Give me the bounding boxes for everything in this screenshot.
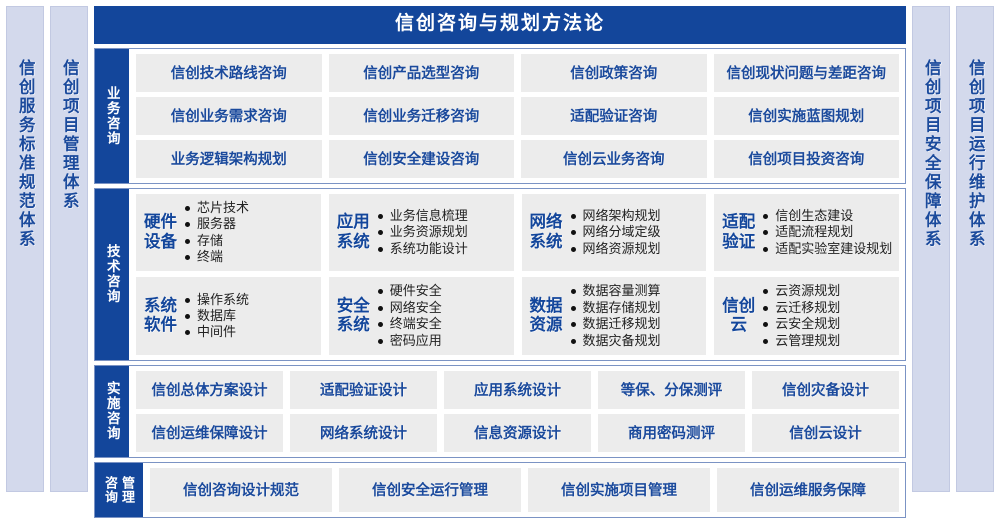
list-item: 中间件 — [184, 324, 315, 340]
card-title-line2: 设备 — [144, 233, 177, 252]
card-list: 数据容量测算 数据存储规划 数据迁移规划 数据灾备规划 — [570, 283, 701, 349]
tile-implementation-item[interactable]: 应用系统设计 — [444, 371, 591, 409]
list-item: 云资源规划 — [762, 283, 893, 299]
tile-implementation-item[interactable]: 商用密码测评 — [598, 414, 745, 452]
card-title-line1: 应用 — [337, 213, 370, 232]
card-title: 数据 资源 — [530, 297, 570, 336]
list-item: 数据存储规划 — [570, 300, 701, 316]
section-management-label-bar: 咨询 管理 — [95, 463, 143, 517]
list-item: 业务信息梳理 — [377, 208, 508, 224]
tile-implementation-item[interactable]: 信创云设计 — [752, 414, 899, 452]
card-list: 硬件安全 网络安全 终端安全 密码应用 — [377, 283, 508, 349]
tile-business-item[interactable]: 信创业务迁移咨询 — [329, 97, 515, 135]
list-item: 网络分域定级 — [570, 224, 701, 240]
list-item: 云安全规划 — [762, 316, 893, 332]
pillar-project-operations-label: 信创项目运行维护体系 — [967, 59, 984, 249]
list-item: 云迁移规划 — [762, 300, 893, 316]
tile-implementation-item[interactable]: 信创运维保障设计 — [136, 414, 283, 452]
card-title-line2: 资源 — [530, 316, 563, 335]
tile-business-item[interactable]: 业务逻辑架构规划 — [136, 140, 322, 178]
card-hardware-devices[interactable]: 硬件 设备 芯片技术 服务器 存储 终端 — [136, 194, 321, 272]
tile-row: 信创业务需求咨询 信创业务迁移咨询 适配验证咨询 信创实施蓝图规划 — [136, 97, 899, 135]
list-item: 终端 — [184, 249, 315, 265]
card-title-line1: 信创 — [722, 297, 755, 316]
card-adaptation-verification[interactable]: 适配 验证 信创生态建设 适配流程规划 适配实验室建设规划 — [714, 194, 899, 272]
tile-implementation-item[interactable]: 网络系统设计 — [290, 414, 437, 452]
tile-business-item[interactable]: 信创项目投资咨询 — [714, 140, 900, 178]
list-item: 终端安全 — [377, 316, 508, 332]
pillar-project-security: 信创项目安全保障体系 — [912, 6, 950, 492]
tile-business-item[interactable]: 信创业务需求咨询 — [136, 97, 322, 135]
section-management-label-col1: 咨询 — [104, 476, 117, 504]
section-technical-label: 技术咨询 — [105, 244, 119, 304]
tile-business-item[interactable]: 信创政策咨询 — [521, 54, 707, 92]
tile-row: 信创咨询设计规范 信创安全运行管理 信创实施项目管理 信创运维服务保障 — [150, 468, 899, 512]
card-title-line2: 软件 — [144, 316, 177, 335]
card-application-system[interactable]: 应用 系统 业务信息梳理 业务资源规划 系统功能设计 — [329, 194, 514, 272]
pillar-project-management-label: 信创项目管理体系 — [61, 59, 78, 211]
tile-implementation-item[interactable]: 信创总体方案设计 — [136, 371, 283, 409]
section-implementation-label: 实施咨询 — [105, 381, 119, 441]
card-security-system[interactable]: 安全 系统 硬件安全 网络安全 终端安全 密码应用 — [329, 277, 514, 355]
card-title-line1: 数据 — [530, 297, 563, 316]
list-item: 芯片技术 — [184, 200, 315, 216]
section-management-body: 信创咨询设计规范 信创安全运行管理 信创实施项目管理 信创运维服务保障 — [143, 463, 905, 517]
card-list: 网络架构规划 网络分域定级 网络资源规划 — [570, 208, 701, 257]
card-title: 适配 验证 — [722, 213, 762, 252]
card-title: 网络 系统 — [530, 213, 570, 252]
tile-management-item[interactable]: 信创运维服务保障 — [717, 468, 899, 512]
card-title-line1: 系统 — [144, 297, 177, 316]
pillar-project-operations: 信创项目运行维护体系 — [956, 6, 994, 492]
card-title: 安全 系统 — [337, 297, 377, 336]
card-system-software[interactable]: 系统 软件 操作系统 数据库 中间件 — [136, 277, 321, 355]
section-business-label-bar: 业务咨询 — [95, 49, 129, 183]
tile-business-item[interactable]: 信创现状问题与差距咨询 — [714, 54, 900, 92]
card-title: 信创 云 — [722, 297, 762, 336]
list-item: 业务资源规划 — [377, 224, 508, 240]
section-implementation-label-bar: 实施咨询 — [95, 366, 129, 457]
section-business-body: 信创技术路线咨询 信创产品选型咨询 信创政策咨询 信创现状问题与差距咨询 信创业… — [129, 49, 905, 183]
card-title-line1: 适配 — [722, 213, 755, 232]
card-title-line2: 验证 — [722, 233, 755, 252]
card-title-line2: 系统 — [530, 233, 563, 252]
card-title-line1: 安全 — [337, 297, 370, 316]
list-item: 存储 — [184, 233, 315, 249]
tile-business-item[interactable]: 适配验证咨询 — [521, 97, 707, 135]
list-item: 数据库 — [184, 308, 315, 324]
pillar-project-security-label: 信创项目安全保障体系 — [923, 59, 940, 249]
card-list: 操作系统 数据库 中间件 — [184, 292, 315, 341]
pillar-service-standard-label: 信创服务标准规范体系 — [17, 59, 34, 249]
list-item: 数据迁移规划 — [570, 316, 701, 332]
tile-row: 业务逻辑架构规划 信创安全建设咨询 信创云业务咨询 信创项目投资咨询 — [136, 140, 899, 178]
list-item: 云管理规划 — [762, 333, 893, 349]
tile-implementation-item[interactable]: 信创灾备设计 — [752, 371, 899, 409]
tile-management-item[interactable]: 信创咨询设计规范 — [150, 468, 332, 512]
card-data-resource[interactable]: 数据 资源 数据容量测算 数据存储规划 数据迁移规划 数据灾备规划 — [522, 277, 707, 355]
list-item: 数据容量测算 — [570, 283, 701, 299]
list-item: 信创生态建设 — [762, 208, 893, 224]
tile-implementation-item[interactable]: 适配验证设计 — [290, 371, 437, 409]
card-row: 硬件 设备 芯片技术 服务器 存储 终端 应用 系统 — [136, 194, 899, 272]
tile-business-item[interactable]: 信创安全建设咨询 — [329, 140, 515, 178]
tile-implementation-item[interactable]: 等保、分保测评 — [598, 371, 745, 409]
list-item: 适配实验室建设规划 — [762, 241, 893, 257]
card-network-system[interactable]: 网络 系统 网络架构规划 网络分域定级 网络资源规划 — [522, 194, 707, 272]
section-business-label: 业务咨询 — [105, 86, 119, 146]
list-item: 数据灾备规划 — [570, 333, 701, 349]
card-list: 芯片技术 服务器 存储 终端 — [184, 200, 315, 266]
tile-management-item[interactable]: 信创实施项目管理 — [528, 468, 710, 512]
list-item: 网络安全 — [377, 300, 508, 316]
tile-business-item[interactable]: 信创云业务咨询 — [521, 140, 707, 178]
tile-business-item[interactable]: 信创实施蓝图规划 — [714, 97, 900, 135]
page-title: 信创咨询与规划方法论 — [94, 6, 906, 44]
center-column: 信创咨询与规划方法论 业务咨询 信创技术路线咨询 信创产品选型咨询 信创政策咨询… — [94, 6, 906, 492]
tile-business-item[interactable]: 信创产品选型咨询 — [329, 54, 515, 92]
list-item: 系统功能设计 — [377, 241, 508, 257]
section-technical-consulting: 技术咨询 硬件 设备 芯片技术 服务器 存储 终端 — [94, 188, 906, 361]
card-title: 系统 软件 — [144, 297, 184, 336]
list-item: 密码应用 — [377, 333, 508, 349]
section-consulting-management: 咨询 管理 信创咨询设计规范 信创安全运行管理 信创实施项目管理 信创运维服务保… — [94, 462, 906, 518]
list-item: 网络架构规划 — [570, 208, 701, 224]
card-xinchuang-cloud[interactable]: 信创 云 云资源规划 云迁移规划 云安全规划 云管理规划 — [714, 277, 899, 355]
section-implementation-consulting: 实施咨询 信创总体方案设计 适配验证设计 应用系统设计 等保、分保测评 信创灾备… — [94, 365, 906, 458]
card-list: 信创生态建设 适配流程规划 适配实验室建设规划 — [762, 208, 893, 257]
card-title: 硬件 设备 — [144, 213, 184, 252]
list-item: 操作系统 — [184, 292, 315, 308]
card-list: 云资源规划 云迁移规划 云安全规划 云管理规划 — [762, 283, 893, 349]
card-list: 业务信息梳理 业务资源规划 系统功能设计 — [377, 208, 508, 257]
section-business-consulting: 业务咨询 信创技术路线咨询 信创产品选型咨询 信创政策咨询 信创现状问题与差距咨… — [94, 48, 906, 184]
section-management-label-col2: 管理 — [121, 476, 134, 504]
card-title-line2: 系统 — [337, 316, 370, 335]
section-technical-body: 硬件 设备 芯片技术 服务器 存储 终端 应用 系统 — [129, 189, 905, 360]
section-implementation-body: 信创总体方案设计 适配验证设计 应用系统设计 等保、分保测评 信创灾备设计 信创… — [129, 366, 905, 457]
card-title-line2: 云 — [722, 316, 755, 335]
card-title-line1: 硬件 — [144, 213, 177, 232]
pillar-project-management: 信创项目管理体系 — [50, 6, 88, 492]
tile-row: 信创运维保障设计 网络系统设计 信息资源设计 商用密码测评 信创云设计 — [136, 414, 899, 452]
card-title-line2: 系统 — [337, 233, 370, 252]
tile-management-item[interactable]: 信创安全运行管理 — [339, 468, 521, 512]
list-item: 适配流程规划 — [762, 224, 893, 240]
card-title-line1: 网络 — [530, 213, 563, 232]
tile-row: 信创技术路线咨询 信创产品选型咨询 信创政策咨询 信创现状问题与差距咨询 — [136, 54, 899, 92]
card-row: 系统 软件 操作系统 数据库 中间件 安全 系统 — [136, 277, 899, 355]
tile-implementation-item[interactable]: 信息资源设计 — [444, 414, 591, 452]
list-item: 服务器 — [184, 216, 315, 232]
list-item: 网络资源规划 — [570, 241, 701, 257]
section-technical-label-bar: 技术咨询 — [95, 189, 129, 360]
list-item: 硬件安全 — [377, 283, 508, 299]
tile-row: 信创总体方案设计 适配验证设计 应用系统设计 等保、分保测评 信创灾备设计 — [136, 371, 899, 409]
diagram-root: 信创服务标准规范体系 信创项目管理体系 信创咨询与规划方法论 业务咨询 信创技术… — [0, 0, 1000, 496]
card-title: 应用 系统 — [337, 213, 377, 252]
pillar-service-standard: 信创服务标准规范体系 — [6, 6, 44, 492]
tile-business-item[interactable]: 信创技术路线咨询 — [136, 54, 322, 92]
